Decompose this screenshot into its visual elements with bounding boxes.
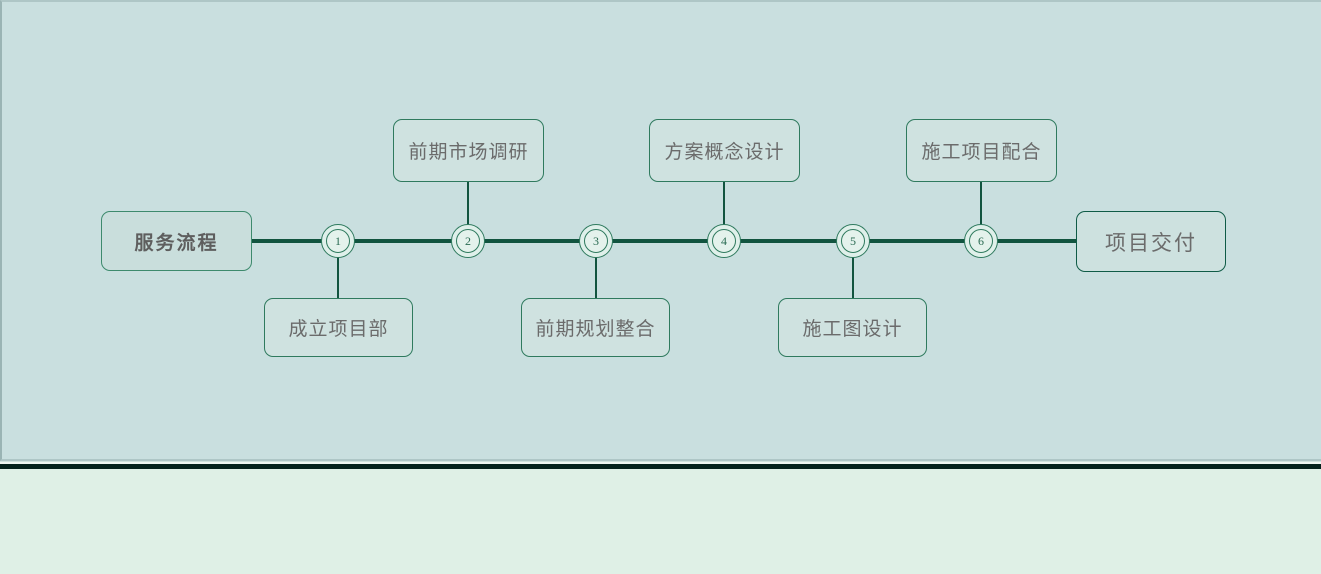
connector-stem-node-5: [852, 255, 854, 299]
milestone-node-6-number: 6: [969, 229, 993, 253]
timeline-spine: [252, 239, 1077, 243]
milestone-node-1-number: 1: [326, 229, 350, 253]
stage-box-start-label: 服务流程: [134, 228, 218, 255]
slide-canvas: 服务流程 前期市场调研 方案概念设计 施工项目配合 成立项目部 前期规划整合 施…: [0, 0, 1321, 461]
stage-box-milestone-1-label: 成立项目部: [288, 314, 388, 341]
connector-stem-node-2: [467, 182, 469, 227]
stage-box-milestone-4-label: 方案概念设计: [664, 137, 784, 164]
stage-box-milestone-2[interactable]: 前期市场调研: [393, 119, 544, 182]
stage-box-milestone-4[interactable]: 方案概念设计: [649, 119, 800, 182]
stage-box-milestone-6-label: 施工项目配合: [921, 137, 1041, 164]
milestone-node-3-number: 3: [584, 229, 608, 253]
stage-box-milestone-5-label: 施工图设计: [802, 314, 902, 341]
stage-box-end-label: 项目交付: [1105, 227, 1197, 257]
stage-box-milestone-6[interactable]: 施工项目配合: [906, 119, 1057, 182]
connector-stem-node-4: [723, 182, 725, 227]
stage-box-end[interactable]: 项目交付: [1076, 211, 1226, 272]
milestone-node-1[interactable]: 1: [321, 224, 355, 258]
stage-box-start[interactable]: 服务流程: [101, 211, 252, 271]
connector-stem-node-6: [980, 182, 982, 227]
stage-box-milestone-2-label: 前期市场调研: [408, 137, 528, 164]
milestone-node-4-number: 4: [712, 229, 736, 253]
milestone-node-2[interactable]: 2: [451, 224, 485, 258]
milestone-node-5-number: 5: [841, 229, 865, 253]
connector-stem-node-3: [595, 255, 597, 299]
milestone-node-4[interactable]: 4: [707, 224, 741, 258]
stage-box-milestone-3-label: 前期规划整合: [535, 314, 655, 341]
milestone-node-5[interactable]: 5: [836, 224, 870, 258]
stage-box-milestone-5[interactable]: 施工图设计: [778, 298, 927, 357]
lower-panel: [0, 469, 1321, 574]
milestone-node-3[interactable]: 3: [579, 224, 613, 258]
stage-box-milestone-1[interactable]: 成立项目部: [264, 298, 413, 357]
stage-box-milestone-3[interactable]: 前期规划整合: [521, 298, 670, 357]
milestone-node-2-number: 2: [456, 229, 480, 253]
connector-stem-node-1: [337, 255, 339, 299]
milestone-node-6[interactable]: 6: [964, 224, 998, 258]
